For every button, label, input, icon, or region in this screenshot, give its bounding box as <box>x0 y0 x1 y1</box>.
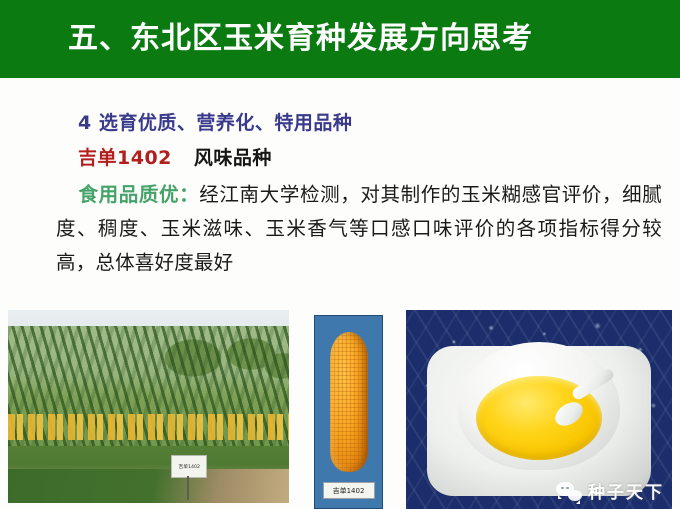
wechat-watermark: 种子天下 <box>556 478 664 503</box>
corn-field-photo: 吉单1402 <box>8 310 289 503</box>
corn-porridge-photo: 种子天下 <box>406 310 672 509</box>
watermark-text: 种子天下 <box>588 478 664 503</box>
slide-title: 五、东北区玉米育种发展方向思考 <box>68 18 533 60</box>
field-sign-label: 吉单1402 <box>178 463 199 469</box>
variety-name: 吉单1402 <box>78 147 172 169</box>
field-ground <box>8 469 289 503</box>
corn-cob <box>330 332 368 472</box>
presentation-slide: 五、东北区玉米育种发展方向思考 4 选育优质、营养化、特用品种 吉单1402风味… <box>0 0 680 509</box>
slide-body: 4 选育优质、营养化、特用品种 吉单1402风味品种 食用品质优：经江南大学检测… <box>0 78 680 306</box>
field-sign-post <box>187 476 189 500</box>
corn-cob-photo: 吉单1402 <box>314 315 383 509</box>
corn-cob-label: 吉单1402 <box>323 482 375 499</box>
variety-type: 风味品种 <box>194 147 272 169</box>
photo-strip: 吉单1402 吉单1402 <box>0 306 680 509</box>
variety-line: 吉单1402风味品种 <box>78 143 272 170</box>
field-sign: 吉单1402 <box>171 455 207 478</box>
slide-title-banner: 五、东北区玉米育种发展方向思考 <box>0 0 680 78</box>
quality-label: 食用品质优： <box>78 183 199 206</box>
corn-cob-label-text: 吉单1402 <box>333 486 365 496</box>
corn-ears-row <box>8 414 289 440</box>
wechat-icon <box>556 481 582 501</box>
section-sub-heading: 4 选育优质、营养化、特用品种 <box>78 108 352 135</box>
bowl <box>458 342 620 470</box>
quality-paragraph: 食用品质优：经江南大学检测，对其制作的玉米糊感官评价，细腻度、稠度、玉米滋味、玉… <box>56 178 662 280</box>
